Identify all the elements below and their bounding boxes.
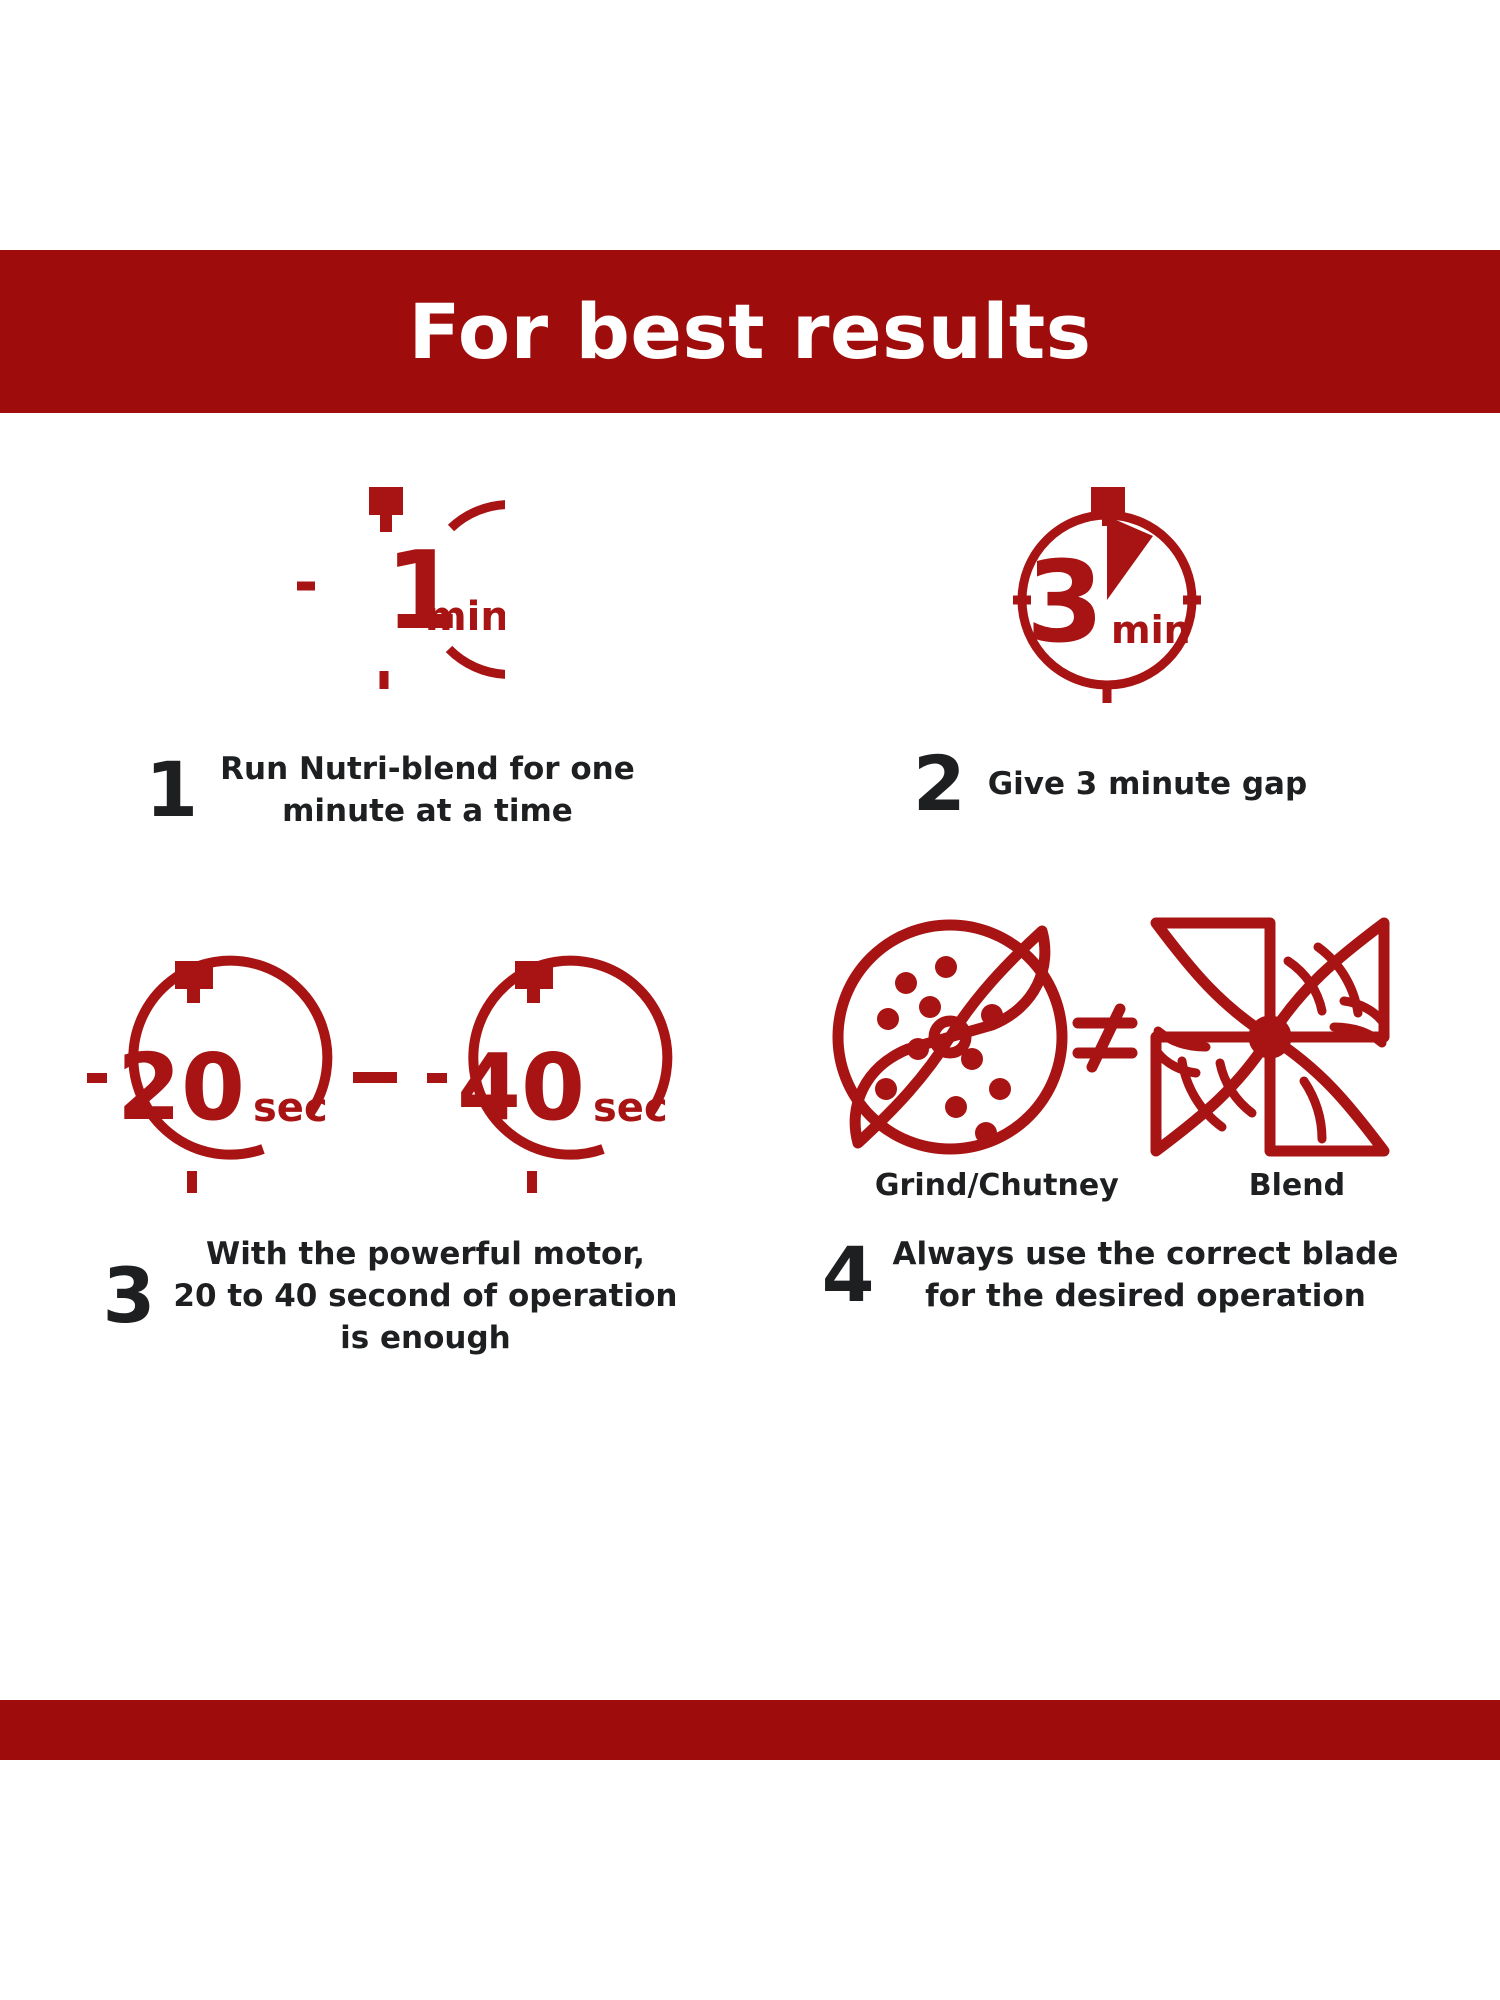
- step-card-1: 1 min! 1 Run Nutri-blend for one minute …: [40, 463, 740, 883]
- step-caption-3: 3 With the powerful motor, 20 to 40 seco…: [40, 1233, 740, 1359]
- step-number-4: 4: [822, 1239, 875, 1311]
- step-caption-4: 4 Always use the correct blade for the d…: [760, 1233, 1460, 1317]
- blade-label-blend: Blend: [1249, 1168, 1345, 1203]
- blade-labels: Grind/Chutney Blend: [760, 1168, 1460, 1203]
- timer-range-20-40-sec-icon: 20 sec 40 se: [40, 933, 740, 1203]
- page-title: For best results: [409, 294, 1092, 370]
- timer-40-sec: 40 sec: [427, 961, 668, 1193]
- step-card-3: 20 sec 40 se: [40, 933, 740, 1413]
- header-banner: For best results: [0, 250, 1500, 413]
- step-card-4: Grind/Chutney Blend 4 Always use the cor…: [760, 933, 1460, 1413]
- step-number-2: 2: [913, 748, 966, 820]
- svg-text:min: min: [1111, 608, 1191, 652]
- svg-text:sec: sec: [593, 1085, 668, 1131]
- timer-3-min-icon: 3 min: [760, 463, 1460, 718]
- step-caption-2: 2 Give 3 minute gap: [760, 748, 1460, 820]
- step-caption-1: 1 Run Nutri-blend for one minute at a ti…: [40, 748, 740, 832]
- step-text-2: Give 3 minute gap: [988, 763, 1307, 805]
- timer-1-min-icon: 1 min!: [40, 463, 740, 718]
- blending-blade-icon: [1156, 923, 1384, 1151]
- blade-comparison-icon: Grind/Chutney Blend: [760, 933, 1460, 1203]
- blade-label-grind: Grind/Chutney: [875, 1168, 1119, 1203]
- step-text-1: Run Nutri-blend for one minute at a time: [220, 748, 635, 832]
- svg-text:min!: min!: [425, 594, 505, 640]
- range-separator-dash: [353, 1072, 397, 1083]
- step-text-3: With the powerful motor, 20 to 40 second…: [173, 1233, 677, 1359]
- infographic-page: For best results: [0, 0, 1500, 2000]
- not-equal-icon: [1078, 1009, 1132, 1067]
- step-number-3: 3: [103, 1260, 156, 1332]
- svg-text:sec: sec: [253, 1085, 328, 1131]
- svg-text:40: 40: [457, 1034, 585, 1141]
- steps-grid: 1 min! 1 Run Nutri-blend for one minute …: [0, 413, 1500, 1700]
- timer-20-sec: 20 sec: [87, 961, 328, 1193]
- step-text-4: Always use the correct blade for the des…: [892, 1233, 1398, 1317]
- step-card-2: 3 min 2 Give 3 minute gap: [760, 463, 1460, 883]
- footer-banner: [0, 1700, 1500, 1760]
- step-number-1: 1: [145, 754, 198, 826]
- svg-text:20: 20: [117, 1034, 245, 1141]
- svg-text:3: 3: [1026, 538, 1104, 668]
